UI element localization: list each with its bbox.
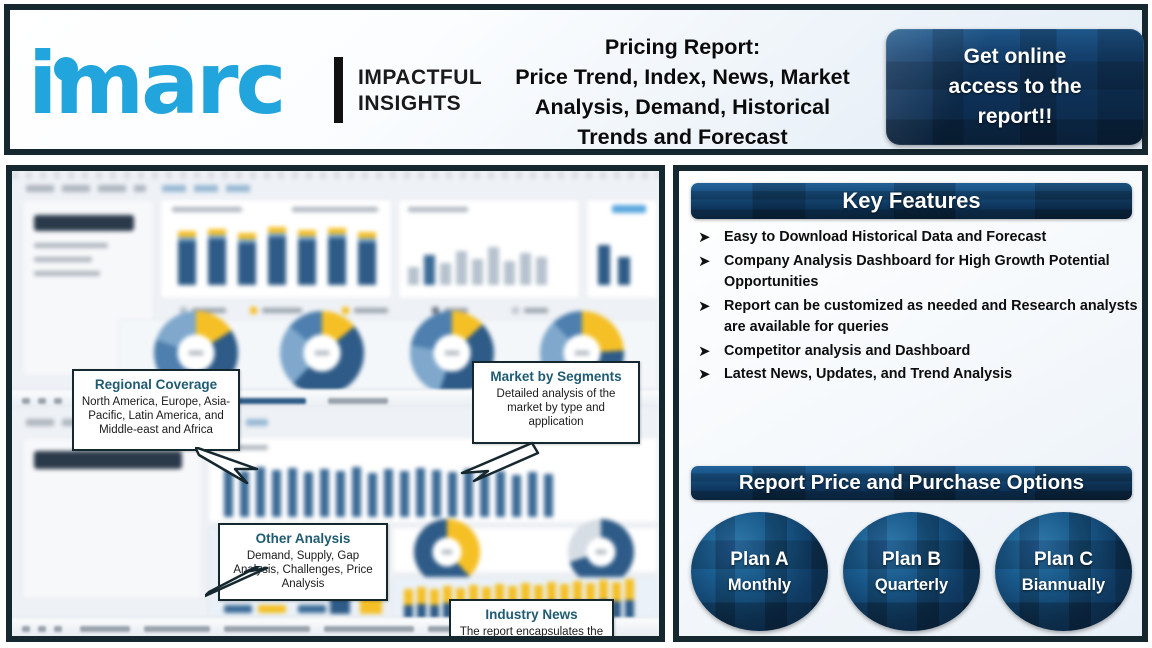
plan-name: Plan B [882, 547, 941, 573]
callout-title: Industry News [451, 601, 612, 623]
legend-chip [258, 605, 286, 613]
bar-item [368, 473, 377, 517]
bar-item [440, 263, 451, 285]
arrow-bullet-icon: ➤ [691, 296, 724, 317]
arrow-bullet-icon: ➤ [691, 341, 724, 362]
key-feature-text: Latest News, Updates, and Trend Analysis [724, 364, 1012, 386]
tab-item[interactable] [80, 626, 130, 632]
filter-chip-lower [34, 451, 182, 469]
bar-item [352, 467, 361, 517]
bar-item [544, 474, 553, 517]
key-features-list: ➤ Easy to Download Historical Data and F… [691, 227, 1139, 388]
bar-item [456, 251, 467, 285]
tab-item-active[interactable] [230, 398, 306, 404]
legend-label [524, 308, 548, 313]
key-feature-text: Competitor analysis and Dashboard [724, 341, 970, 363]
logo-wordmark: imarc [28, 41, 284, 127]
bar-item [240, 471, 249, 517]
bar-item [288, 468, 297, 517]
bar-item [358, 232, 376, 285]
logo-dot-icon [54, 57, 78, 81]
tab-item[interactable] [22, 398, 30, 404]
browser-tabstrip [12, 171, 659, 179]
bar-item [384, 469, 393, 517]
bar-item [328, 228, 346, 285]
key-feature-text: Company Analysis Dashboard for High Grow… [724, 251, 1139, 294]
bar-item [416, 468, 425, 517]
legend-chip [298, 605, 326, 613]
legend-swatch [342, 307, 349, 314]
bar-item [464, 469, 473, 517]
plan-period: Quarterly [875, 573, 948, 597]
logo-tagline-line1: IMPACTFUL [358, 65, 482, 91]
get-online-access-button[interactable]: Get online access to the report!! [886, 29, 1144, 145]
features-and-pricing-panel: Key Features ➤ Easy to Download Historic… [673, 165, 1148, 642]
bar-item [496, 471, 505, 517]
arrow-bullet-icon: ➤ [691, 364, 724, 385]
tab-item[interactable] [144, 626, 210, 632]
arrow-bullet-icon: ➤ [691, 227, 724, 248]
legend-chip [224, 605, 252, 613]
callout-regional-coverage: Regional Coverage North America, Europe,… [72, 369, 240, 451]
cta-line3: report!! [948, 102, 1081, 132]
page-title-line2: Price Trend, Index, News, Market [480, 62, 885, 92]
bar-item [268, 227, 286, 285]
tab-item[interactable] [324, 626, 414, 632]
bar-item [432, 470, 441, 517]
cta-line2: access to the [948, 72, 1081, 102]
bar-item [598, 245, 610, 285]
donut-chart [568, 519, 634, 585]
dashboard-preview-panel: Regional Coverage North America, Europe,… [6, 165, 665, 642]
tab-item[interactable] [22, 626, 30, 632]
plan-period: Biannually [1022, 573, 1105, 597]
chart-title-grey [408, 207, 468, 212]
tab-item[interactable] [224, 626, 310, 632]
bar-item [272, 470, 281, 517]
callout-industry-news: Industry News The report encapsulates th… [449, 599, 614, 642]
bar-item [320, 469, 329, 517]
key-feature-text: Easy to Download Historical Data and For… [724, 227, 1046, 249]
bar-item [304, 472, 313, 517]
key-feature-item: ➤ Easy to Download Historical Data and F… [691, 227, 1139, 249]
page-title: Pricing Report: Price Trend, Index, News… [480, 32, 885, 152]
key-features-heading-label: Key Features [842, 188, 980, 214]
tab-item[interactable] [328, 398, 388, 404]
bar-item [448, 472, 457, 517]
cta-line1: Get online [948, 42, 1081, 72]
plan-option-b[interactable]: Plan B Quarterly [843, 512, 980, 631]
plan-period: Monthly [728, 573, 791, 597]
key-features-heading: Key Features [691, 183, 1132, 219]
legend-swatch [512, 307, 519, 314]
bar-item [400, 471, 409, 517]
logo-divider [334, 57, 343, 123]
pricing-heading: Report Price and Purchase Options [691, 466, 1132, 500]
bar-item [178, 231, 196, 285]
tab-item[interactable] [54, 626, 62, 632]
page-title-line1: Pricing Report: [480, 32, 885, 62]
callout-body: Detailed analysis of the market by type … [474, 385, 638, 433]
filter-label-1 [34, 243, 108, 248]
legend-label [354, 308, 388, 313]
donut-chart [280, 311, 364, 395]
plan-option-c[interactable]: Plan C Biannually [995, 512, 1132, 631]
bar-item [520, 253, 531, 285]
cta-label: Get online access to the report!! [948, 42, 1081, 132]
filter-chip-primary [34, 215, 134, 231]
logo-tagline: IMPACTFUL INSIGHTS [358, 65, 482, 117]
tab-item[interactable] [38, 398, 46, 404]
tab-item[interactable] [54, 398, 62, 404]
chart-title-stacked [172, 207, 242, 212]
callout-body: Demand, Supply, Gap Analysis, Challenges… [220, 547, 386, 595]
chart-legend-stacked [292, 207, 378, 212]
breadcrumb-right [162, 185, 252, 192]
callout-title: Regional Coverage [74, 371, 238, 393]
tab-item[interactable] [38, 626, 46, 632]
bar-item [224, 469, 233, 517]
page-title-line4: Trends and Forecast [480, 122, 885, 152]
callout-other-analysis: Other Analysis Demand, Supply, Gap Analy… [218, 523, 388, 601]
bar-item [504, 261, 515, 285]
bar-item [472, 259, 483, 285]
bar-item [298, 230, 316, 285]
plan-name: Plan A [730, 547, 788, 573]
bar-item [424, 255, 435, 285]
key-feature-item: ➤ Latest News, Updates, and Trend Analys… [691, 364, 1139, 386]
chart-badge-right [612, 205, 646, 213]
callout-body: North America, Europe, Asia-Pacific, Lat… [74, 393, 238, 441]
filter-label-2 [34, 257, 92, 262]
plan-option-a[interactable]: Plan A Monthly [691, 512, 828, 631]
donut-chart [414, 519, 480, 585]
filter-label-3 [34, 271, 100, 276]
bar-item [408, 267, 419, 285]
bar-item [256, 467, 265, 517]
callout-title: Other Analysis [220, 525, 386, 547]
header-bar: imarc IMPACTFUL INSIGHTS Pricing Report:… [4, 4, 1148, 155]
key-feature-text: Report can be customized as needed and R… [724, 296, 1139, 339]
key-feature-item: ➤ Report can be customized as needed and… [691, 296, 1139, 339]
plan-options: Plan A Monthly Plan B Quarterly Plan C B… [691, 512, 1132, 632]
bar-item [528, 472, 537, 517]
bar-item [512, 475, 521, 517]
bar-item [488, 247, 499, 285]
legend-label [262, 308, 302, 313]
bar-item [536, 257, 547, 285]
bar-item [336, 471, 345, 517]
key-feature-item: ➤ Company Analysis Dashboard for High Gr… [691, 251, 1139, 294]
dashboard-screenshot: Regional Coverage North America, Europe,… [12, 171, 659, 636]
callout-title: Market by Segments [474, 363, 638, 385]
callout-market-by-segments: Market by Segments Detailed analysis of … [472, 361, 640, 444]
key-feature-item: ➤ Competitor analysis and Dashboard [691, 341, 1139, 363]
bar-item [618, 257, 630, 285]
breadcrumb-left [26, 185, 146, 192]
pricing-heading-label: Report Price and Purchase Options [739, 471, 1084, 495]
bar-item [238, 233, 256, 285]
pricing-report-banner: imarc IMPACTFUL INSIGHTS Pricing Report:… [0, 0, 1152, 648]
arrow-bullet-icon: ➤ [691, 251, 724, 272]
imarc-logo: imarc IMPACTFUL INSIGHTS [28, 28, 478, 138]
plan-name: Plan C [1034, 547, 1093, 573]
logo-tagline-line2: INSIGHTS [358, 91, 482, 117]
legend-swatch [250, 307, 257, 314]
bar-item [208, 229, 226, 285]
callout-body: The report encapsulates the latest updat… [451, 623, 612, 642]
bar-item [480, 473, 489, 517]
page-title-line3: Analysis, Demand, Historical [480, 92, 885, 122]
